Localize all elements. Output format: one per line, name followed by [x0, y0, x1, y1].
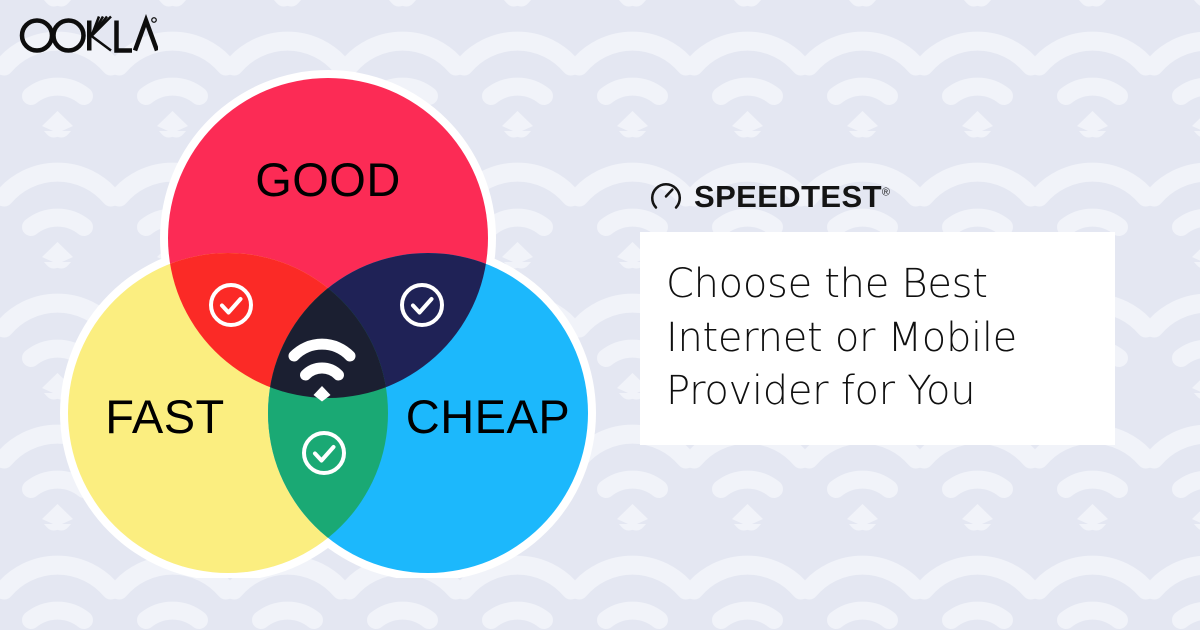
venn-diagram: GOOD FAST CHEAP — [48, 58, 608, 578]
speedtest-wordmark: SPEEDTEST® — [694, 181, 890, 212]
ookla-logo — [18, 14, 158, 54]
speedtest-logo: SPEEDTEST® — [649, 176, 1120, 216]
venn-label-fast: FAST — [105, 390, 225, 443]
speedtest-wordmark-text: SPEEDTEST — [694, 179, 882, 214]
poster-canvas: GOOD FAST CHEAP — [0, 0, 1200, 630]
right-column: SPEEDTEST® Choose the Best Internet or M… — [640, 176, 1120, 445]
venn-label-good: GOOD — [255, 153, 401, 206]
headline-card: Choose the Best Internet or Mobile Provi… — [640, 232, 1115, 445]
page-title: Choose the Best Internet or Mobile Provi… — [666, 258, 1115, 419]
venn-label-cheap: CHEAP — [406, 390, 570, 443]
speedometer-icon — [649, 179, 683, 213]
registered-trademark-symbol: ® — [882, 186, 890, 198]
